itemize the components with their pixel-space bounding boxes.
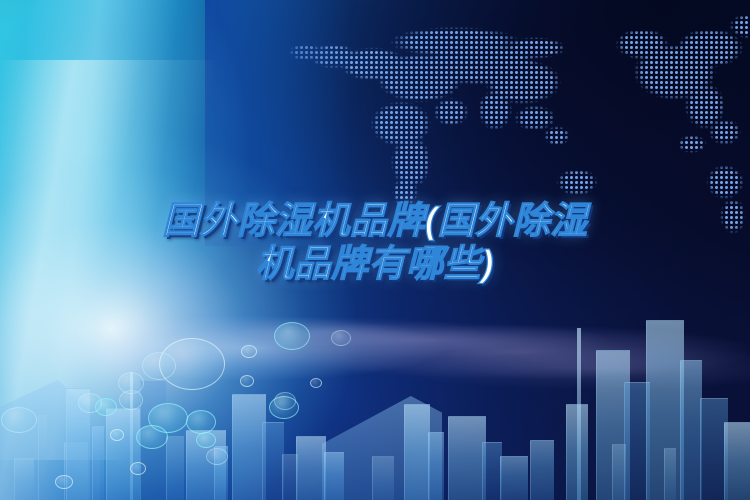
edge-vignette bbox=[0, 0, 750, 500]
promo-banner: 国外除湿机品牌(国外除湿 机品牌有哪些) bbox=[0, 0, 750, 500]
